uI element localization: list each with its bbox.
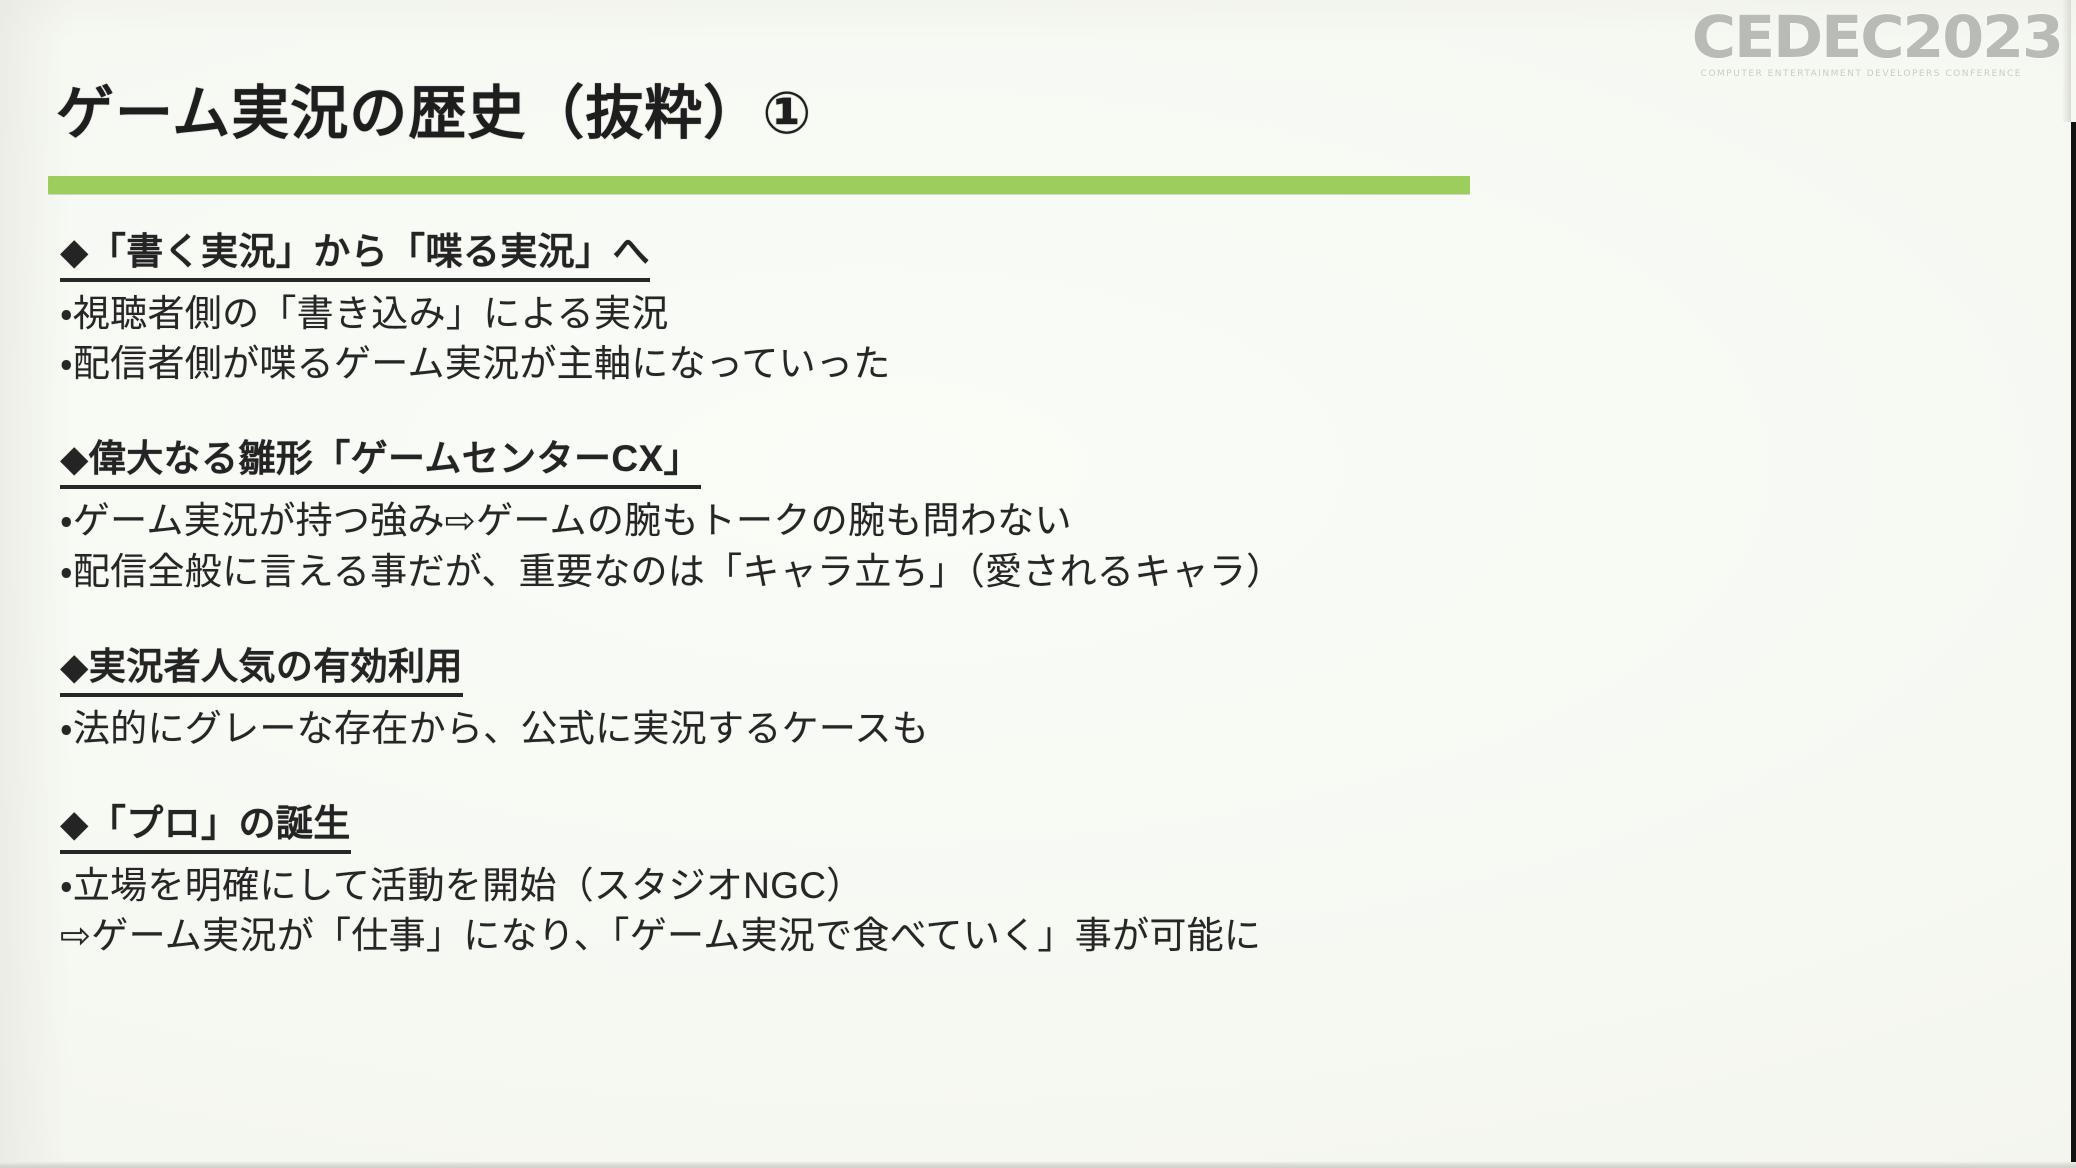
section-bullet-line: ⇨ゲーム実況が「仕事」になり、「ゲーム実況で食べていく」事が可能に (60, 911, 2020, 961)
section-bullet-line: ・立場を明確にして活動を開始（スタジオNGC） (60, 861, 2020, 911)
slide-body: ◆「書く実況」から「喋る実況」へ ・視聴者側の「書き込み」による実況 ・配信者側… (60, 228, 2020, 962)
frame-edge-right-gradient (2062, 0, 2071, 122)
slide-section: ◆実況者人気の有効利用 ・法的にグレーな存在から、公式に実況するケースも (60, 643, 2020, 754)
section-bullet-line: ・配信者側が喋るゲーム実況が主軸になっていった (60, 339, 2020, 389)
section-bullet-line: ・視聴者側の「書き込み」による実況 (60, 289, 2020, 339)
cedec-logo-wordmark: CEDEC2023 (1692, 8, 2062, 66)
section-bullet-line: ・配信全般に言える事だが、重要なのは「キャラ立ち」（愛されるキャラ） (60, 547, 2020, 597)
slide-section: ◆偉大なる雛形「ゲームセンターCX」 ・ゲーム実況が持つ強み⇨ゲームの腕もトーク… (60, 435, 2020, 596)
title-underline-rule (48, 176, 1470, 194)
frame-edge-bottom (0, 1162, 2076, 1168)
section-heading: ◆実況者人気の有効利用 (60, 643, 463, 697)
slide-section: ◆「書く実況」から「喋る実況」へ ・視聴者側の「書き込み」による実況 ・配信者側… (60, 228, 2020, 389)
section-heading: ◆偉大なる雛形「ゲームセンターCX」 (60, 435, 701, 489)
frame-edge-right (2071, 122, 2076, 1168)
section-bullet-line: ・ゲーム実況が持つ強み⇨ゲームの腕もトークの腕も問わない (60, 496, 2020, 546)
slide-section: ◆「プロ」の誕生 ・立場を明確にして活動を開始（スタジオNGC） ⇨ゲーム実況が… (60, 800, 2020, 961)
section-heading: ◆「書く実況」から「喋る実況」へ (60, 228, 650, 282)
section-bullet-line: ・法的にグレーな存在から、公式に実況するケースも (60, 704, 2020, 754)
slide-title: ゲーム実況の歴史（抜粋）① (56, 66, 812, 150)
presentation-slide: CEDEC2023 COMPUTER ENTERTAINMENT DEVELOP… (0, 0, 2076, 1168)
cedec-logo: CEDEC2023 COMPUTER ENTERTAINMENT DEVELOP… (1672, 8, 2062, 88)
section-heading: ◆「プロ」の誕生 (60, 800, 351, 854)
